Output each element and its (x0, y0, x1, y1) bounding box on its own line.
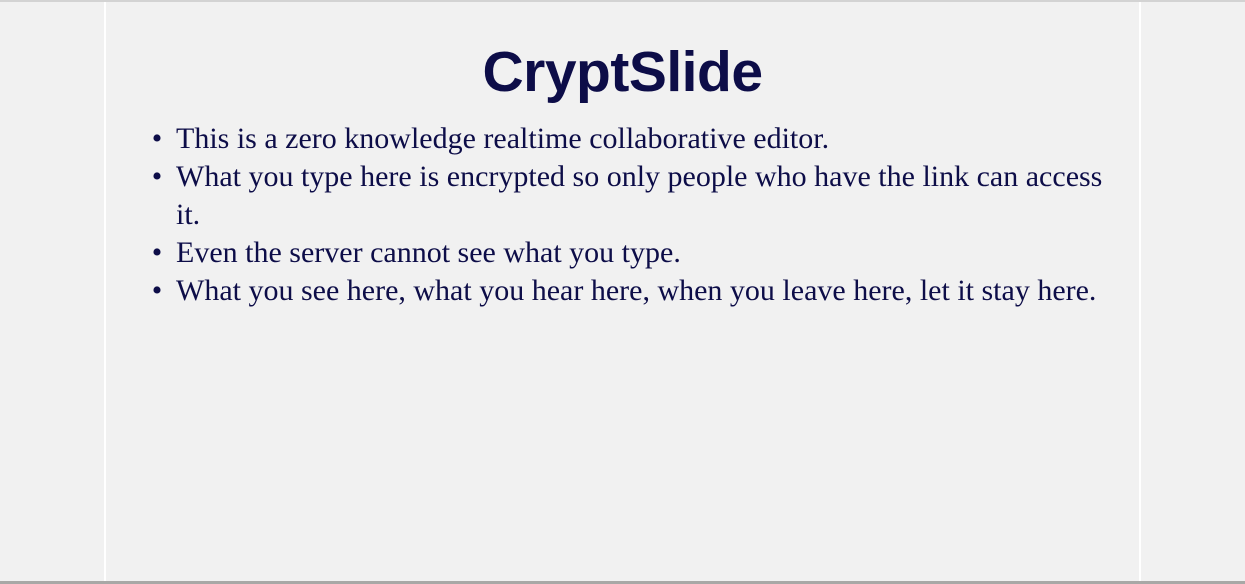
list-item[interactable]: • What you type here is encrypted so onl… (106, 158, 1139, 234)
bullet-text[interactable]: This is a zero knowledge realtime collab… (176, 120, 1107, 158)
bullet-point-icon: • (148, 272, 166, 310)
bullet-point-icon: • (148, 158, 166, 196)
slide-bullet-list[interactable]: • This is a zero knowledge realtime coll… (106, 120, 1139, 310)
slide-right-edge-rule (1139, 2, 1141, 581)
list-item[interactable]: • Even the server cannot see what you ty… (106, 234, 1139, 272)
right-gutter (1140, 2, 1245, 581)
slide-title[interactable]: CryptSlide (106, 2, 1139, 101)
list-item[interactable]: • This is a zero knowledge realtime coll… (106, 120, 1139, 158)
bullet-text[interactable]: What you see here, what you hear here, w… (176, 272, 1107, 310)
bullet-point-icon: • (148, 234, 166, 272)
bullet-text[interactable]: What you type here is encrypted so only … (176, 158, 1107, 234)
bullet-point-icon: • (148, 120, 166, 158)
bullet-text[interactable]: Even the server cannot see what you type… (176, 234, 1107, 272)
list-item[interactable]: • What you see here, what you hear here,… (106, 272, 1139, 310)
slide-canvas[interactable]: CryptSlide • This is a zero knowledge re… (106, 2, 1139, 581)
slide-viewer: CryptSlide • This is a zero knowledge re… (0, 0, 1245, 584)
left-gutter (0, 2, 105, 581)
